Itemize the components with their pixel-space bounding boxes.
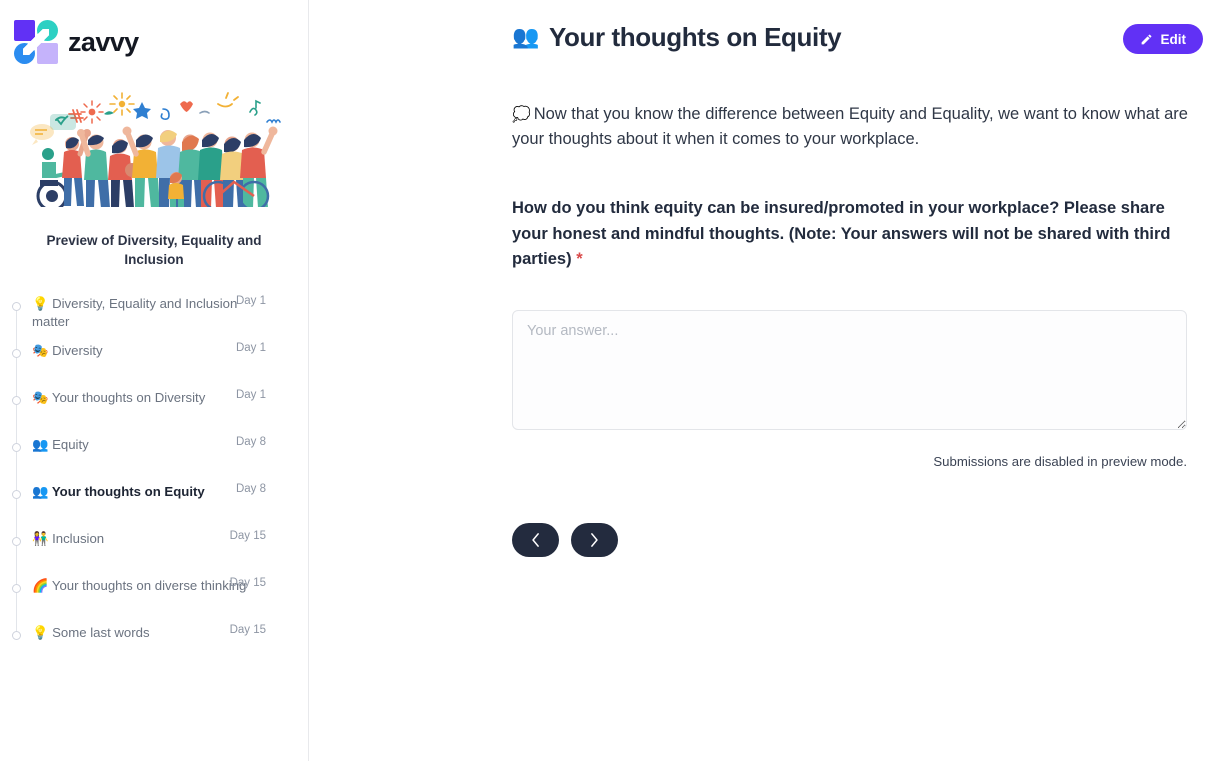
page-header: 👥 Your thoughts on Equity Edit (512, 0, 1202, 54)
intro-text: Now that you know the difference between… (512, 105, 1188, 148)
submission-disabled-note: Submissions are disabled in preview mode… (512, 454, 1187, 469)
timeline-dot-icon (12, 490, 21, 499)
timeline-item-label: 🎭 Diversity (32, 342, 266, 360)
timeline-item-day: Day 15 (230, 624, 266, 636)
timeline-dot-icon (12, 443, 21, 452)
timeline-item-day: Day 15 (230, 577, 266, 589)
intro-paragraph: 💭Now that you know the difference betwee… (512, 102, 1202, 152)
answer-input[interactable] (512, 310, 1187, 430)
timeline-item-day: Day 1 (236, 342, 266, 354)
required-asterisk: * (576, 250, 582, 268)
previous-button[interactable] (512, 523, 559, 557)
timeline-item-day: Day 1 (236, 389, 266, 401)
hero-illustration (26, 84, 282, 214)
timeline-item[interactable]: 🌈 Your thoughts on diverse thinkingDay 1… (0, 577, 308, 624)
timeline-item-emoji-icon: 👥 (32, 437, 48, 452)
timeline-item[interactable]: 👫 InclusionDay 15 (0, 530, 308, 577)
timeline-item-text: Your thoughts on Diversity (52, 390, 205, 405)
timeline-item-emoji-icon: 👫 (32, 531, 48, 546)
timeline-item[interactable]: 👥 EquityDay 8 (0, 436, 308, 483)
brand-wordmark: zavvy (68, 27, 139, 58)
brand-logo[interactable]: zavvy (0, 0, 308, 62)
question-label: How do you think equity can be insured/p… (512, 196, 1202, 273)
chevron-left-icon (531, 533, 540, 547)
timeline-item[interactable]: 💡 Some last wordsDay 15 (0, 624, 308, 671)
timeline-item-label: 👥 Your thoughts on Equity (32, 483, 266, 501)
timeline-item-emoji-icon: 🎭 (32, 390, 48, 405)
sidebar: zavvy (0, 0, 309, 761)
timeline-dot-icon (12, 537, 21, 546)
zavvy-logo-mark-icon (14, 20, 58, 64)
timeline-item-day: Day 1 (236, 295, 266, 307)
timeline-item[interactable]: 👥 Your thoughts on EquityDay 8 (0, 483, 308, 530)
timeline-item[interactable]: 💡 Diversity, Equality and Inclusion matt… (0, 295, 308, 342)
timeline-dot-icon (12, 631, 21, 640)
timeline-item-text: Diversity (52, 343, 103, 358)
app-root: zavvy (0, 0, 1232, 761)
navigation-buttons (512, 523, 1202, 557)
timeline-item-emoji-icon: 💡 (32, 625, 48, 640)
timeline-connector (16, 499, 17, 538)
diverse-crowd-illustration-icon (26, 84, 282, 214)
lesson-timeline: 💡 Diversity, Equality and Inclusion matt… (0, 295, 308, 671)
preview-title: Preview of Diversity, Equality and Inclu… (22, 232, 286, 269)
timeline-dot-icon (12, 584, 21, 593)
timeline-item-label: 💡 Diversity, Equality and Inclusion matt… (32, 295, 266, 331)
edit-button-label: Edit (1161, 32, 1187, 47)
main-content: 👥 Your thoughts on Equity Edit 💭Now that… (309, 0, 1232, 761)
timeline-item-emoji-icon: 🌈 (32, 578, 48, 593)
timeline-dot-icon (12, 302, 21, 311)
timeline-dot-icon (12, 396, 21, 405)
timeline-connector (16, 452, 17, 491)
timeline-connector (16, 546, 17, 585)
timeline-item-label: 🎭 Your thoughts on Diversity (32, 389, 266, 407)
timeline-item-text: Inclusion (52, 531, 104, 546)
timeline-item-day: Day 15 (230, 530, 266, 542)
timeline-item-text: Some last words (52, 625, 149, 640)
timeline-item-day: Day 8 (236, 483, 266, 495)
timeline-connector (16, 358, 17, 397)
page-title-text: Your thoughts on Equity (549, 22, 841, 53)
pencil-icon (1140, 33, 1153, 46)
timeline-item-text: Diversity, Equality and Inclusion matter (32, 296, 237, 329)
timeline-item-label: 👥 Equity (32, 436, 266, 454)
timeline-dot-icon (12, 349, 21, 358)
busts-in-silhouette-icon: 👥 (512, 24, 539, 50)
edit-button[interactable]: Edit (1123, 24, 1204, 54)
timeline-connector (16, 593, 17, 632)
timeline-item-emoji-icon: 💡 (32, 296, 48, 311)
timeline-item-text: Your thoughts on Equity (52, 484, 205, 499)
next-button[interactable] (571, 523, 618, 557)
timeline-item-emoji-icon: 👥 (32, 484, 48, 499)
timeline-item[interactable]: 🎭 Your thoughts on DiversityDay 1 (0, 389, 308, 436)
page-title: 👥 Your thoughts on Equity (512, 22, 841, 53)
timeline-item-day: Day 8 (236, 436, 266, 448)
timeline-item-text: Equity (52, 437, 89, 452)
timeline-connector (16, 405, 17, 444)
timeline-item[interactable]: 🎭 DiversityDay 1 (0, 342, 308, 389)
chevron-right-icon (590, 533, 599, 547)
timeline-item-emoji-icon: 🎭 (32, 343, 48, 358)
timeline-connector (16, 311, 17, 350)
timeline-item-text: Your thoughts on diverse thinking (52, 578, 247, 593)
content-column: 👥 Your thoughts on Equity Edit 💭Now that… (512, 0, 1202, 557)
question-text: How do you think equity can be insured/p… (512, 199, 1171, 268)
thought-balloon-icon: 💭 (512, 106, 531, 123)
